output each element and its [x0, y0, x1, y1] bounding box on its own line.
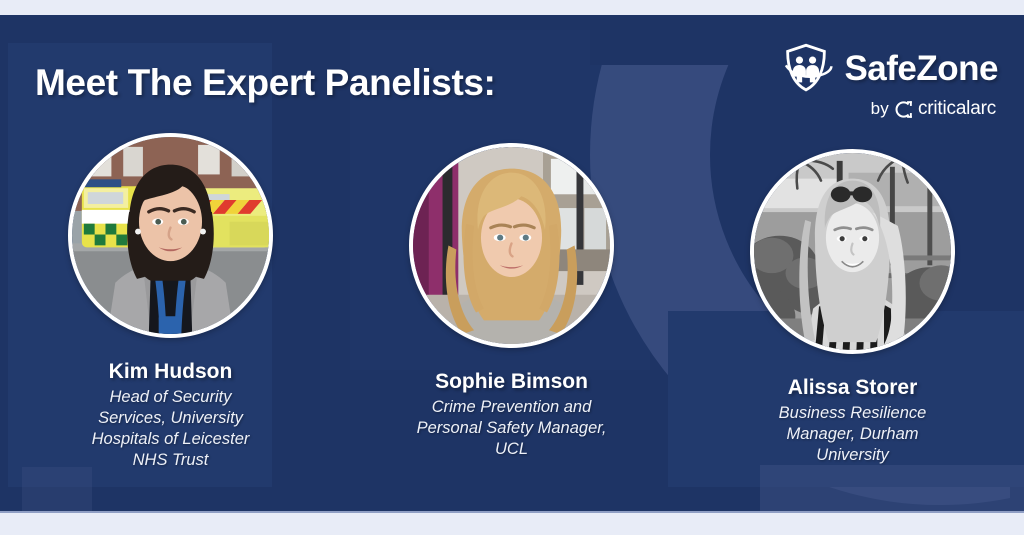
background-panel-bottom-left [22, 467, 92, 513]
safezone-brand-lockup: SafeZone by criticalarc [770, 40, 998, 112]
brand-by-label: by [871, 99, 889, 119]
panelist-name: Kim Hudson [109, 360, 233, 384]
panelist-card: Sophie Bimson Crime Prevention and Perso… [341, 133, 682, 472]
sophie-bimson-photo [413, 147, 610, 344]
background-panel-bottom-right [760, 465, 1024, 513]
panelist-card: Kim Hudson Head of Security Services, Un… [0, 133, 341, 472]
avatar [750, 149, 955, 354]
brand-primary-row: SafeZone [770, 40, 998, 96]
alissa-storer-photo [754, 153, 951, 350]
brand-name: SafeZone [844, 51, 998, 86]
safezone-shield-icon [778, 40, 834, 96]
panelist-card: Alissa Storer Business Resilience Manage… [682, 133, 1023, 472]
avatar [68, 133, 273, 338]
kim-hudson-photo [72, 137, 269, 334]
page-title: Meet The Expert Panelists: [35, 62, 495, 104]
brand-secondary-row: by criticalarc [770, 98, 998, 120]
panelist-title: Crime Prevention and Personal Safety Man… [417, 397, 607, 460]
slide-canvas: Meet The Expert Panelists: SafeZon [0, 0, 1024, 535]
panelist-title: Head of Security Services, University Ho… [92, 387, 250, 471]
criticalarc-arc-icon [894, 100, 913, 119]
panelist-name: Sophie Bimson [435, 370, 588, 394]
brand-company-name: criticalarc [918, 98, 996, 120]
panelist-title: Business Resilience Manager, Durham Univ… [779, 403, 927, 466]
avatar [409, 143, 614, 348]
panelist-name: Alissa Storer [788, 376, 918, 400]
panelists-row: Kim Hudson Head of Security Services, Un… [0, 133, 1024, 472]
panelist-banner: Meet The Expert Panelists: SafeZon [0, 15, 1024, 513]
